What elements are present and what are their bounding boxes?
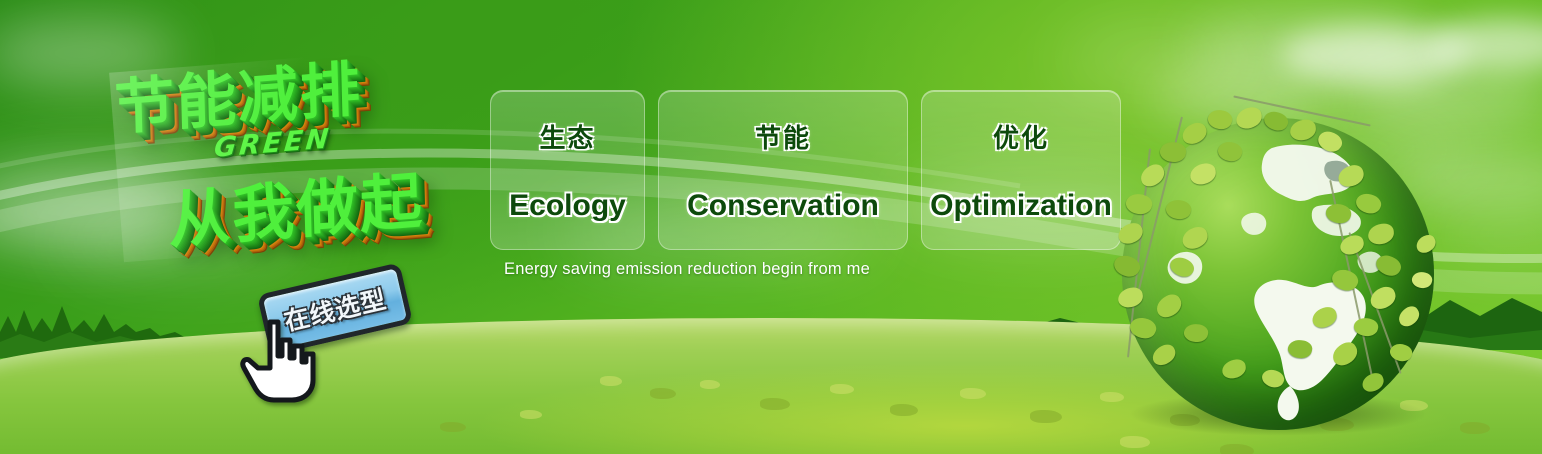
cloud-shape [1430, 210, 1542, 260]
feature-card-ecology[interactable]: 生态 Ecology [490, 90, 645, 250]
title-line-2: 从我做起 [167, 150, 425, 260]
pointing-hand-cursor-icon [240, 318, 318, 404]
feature-card-en-label: Conservation [687, 189, 879, 223]
feature-cards: 生态 Ecology 节能 Conservation 优化 Optimizati… [490, 90, 1121, 250]
feature-card-cn-label: 生态 [539, 118, 595, 155]
globe-sphere [1122, 118, 1434, 430]
feature-card-cn-label: 优化 [993, 118, 1049, 155]
tagline-text: Energy saving emission reduction begin f… [504, 260, 870, 279]
leaf-covered-globe-icon [1122, 118, 1434, 430]
hero-title-art: 节能减排 GREEN 从我做起 [96, 40, 496, 270]
globe-continents [1122, 118, 1434, 430]
feature-card-en-label: Ecology [509, 189, 626, 223]
green-energy-banner: 节能减排 GREEN 从我做起 在线选型 生态 Ecology 节能 Conse… [0, 0, 1542, 454]
feature-card-en-label: Optimization [930, 189, 1112, 223]
feature-card-cn-label: 节能 [755, 118, 811, 155]
feature-card-conservation[interactable]: 节能 Conservation [658, 90, 908, 250]
cloud-shape [1060, 30, 1250, 86]
feature-card-optimization[interactable]: 优化 Optimization [921, 90, 1121, 250]
